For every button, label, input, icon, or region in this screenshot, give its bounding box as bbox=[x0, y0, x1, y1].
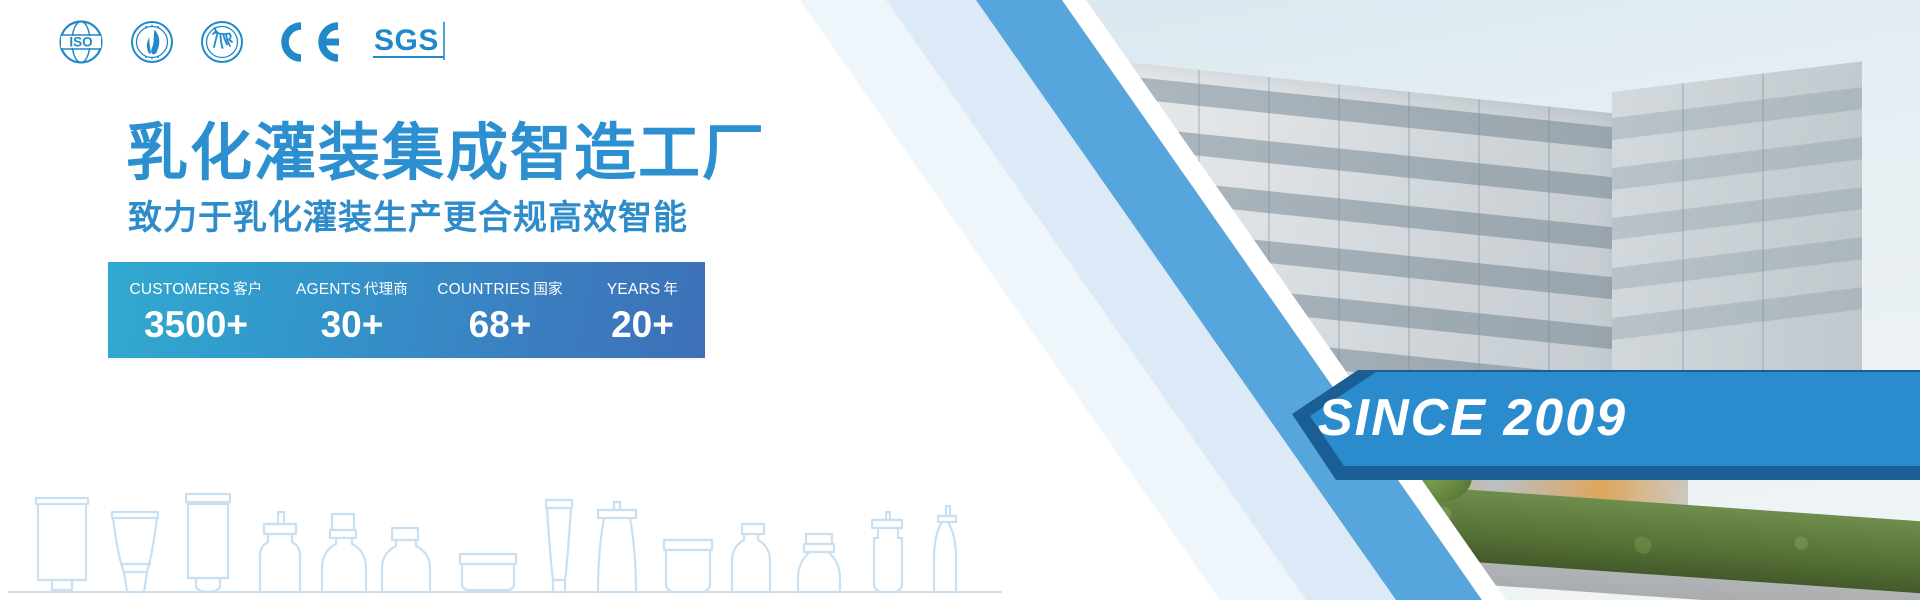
sgs-certification-logo: SGS bbox=[372, 16, 456, 68]
silhouette-round-jar bbox=[798, 534, 840, 592]
stat-item-countries: COUNTRIES国家 68+ bbox=[420, 262, 580, 358]
svg-text:SGS: SGS bbox=[374, 24, 439, 57]
silhouette-jar-bottle bbox=[460, 554, 516, 590]
silhouette-pouch-bottle bbox=[732, 524, 770, 592]
shrub bbox=[1220, 452, 1284, 502]
since-badge: SINCE 2009 bbox=[1292, 370, 1920, 480]
stat-label-en-agents: AGENTS bbox=[296, 281, 361, 298]
stat-item-years: YEARS年 20+ bbox=[580, 262, 705, 358]
silhouette-ampoule bbox=[934, 506, 956, 592]
silhouette-cream-jar bbox=[598, 502, 636, 592]
silhouette-dropper-bottle bbox=[260, 512, 300, 592]
stat-value-customers: 3500+ bbox=[144, 306, 248, 343]
pedestrian bbox=[1214, 400, 1219, 430]
silhouette-syringe-applicator bbox=[872, 512, 902, 592]
promotional-banner: ISO bbox=[0, 0, 1920, 600]
stat-label-customers: CUSTOMERS客户 bbox=[130, 278, 263, 299]
stat-label-en-customers: CUSTOMERS bbox=[130, 281, 231, 298]
pedestrian bbox=[1204, 400, 1209, 430]
silhouette-slim-tube bbox=[546, 500, 572, 592]
stat-label-cn-years: 年 bbox=[663, 282, 678, 298]
certification-logo-strip: ISO bbox=[58, 14, 456, 70]
gmp-flame-certification-logo bbox=[130, 20, 174, 64]
since-badge-text: SINCE 2009 bbox=[1318, 388, 1627, 448]
stat-label-cn-customers: 客户 bbox=[233, 282, 262, 298]
stat-value-years: 20+ bbox=[611, 306, 674, 343]
deer-mark-certification-logo bbox=[200, 20, 244, 64]
left-content-panel: ISO bbox=[0, 0, 1010, 600]
stat-label-years: YEARS年 bbox=[607, 278, 678, 299]
silhouette-wide-cap-bottle bbox=[382, 528, 430, 592]
stat-label-en-years: YEARS bbox=[607, 281, 661, 298]
ce-marking-logo bbox=[270, 20, 346, 64]
silhouette-serum-bottle bbox=[322, 514, 366, 592]
statistics-bar: CUSTOMERS客户 3500+ AGENTS代理商 30+ COUNTRIE… bbox=[108, 262, 705, 358]
shrub bbox=[1100, 440, 1186, 504]
stat-label-cn-agents: 代理商 bbox=[364, 282, 408, 298]
silhouette-pump-bottle bbox=[664, 540, 712, 592]
stat-label-countries: COUNTRIES国家 bbox=[437, 278, 563, 299]
banner-subheadline: 致力于乳化灌装生产更合规高效智能 bbox=[128, 198, 688, 239]
stat-item-customers: CUSTOMERS客户 3500+ bbox=[108, 262, 284, 358]
packaging-silhouette-row bbox=[0, 480, 1010, 600]
stat-value-agents: 30+ bbox=[321, 306, 384, 343]
silhouette-round-tube bbox=[186, 494, 230, 592]
silhouette-squeeze-tube-large bbox=[36, 498, 88, 590]
svg-text:ISO: ISO bbox=[69, 35, 92, 50]
stat-label-en-countries: COUNTRIES bbox=[437, 281, 530, 298]
stat-label-agents: AGENTS代理商 bbox=[296, 278, 408, 299]
iso-certification-logo: ISO bbox=[58, 19, 104, 65]
stat-label-cn-countries: 国家 bbox=[533, 282, 562, 298]
silhouette-cosmetic-tube bbox=[112, 512, 158, 592]
stat-item-agents: AGENTS代理商 30+ bbox=[284, 262, 420, 358]
stat-value-countries: 68+ bbox=[469, 306, 532, 343]
banner-headline: 乳化灌装集成智造工厂 bbox=[126, 118, 766, 187]
